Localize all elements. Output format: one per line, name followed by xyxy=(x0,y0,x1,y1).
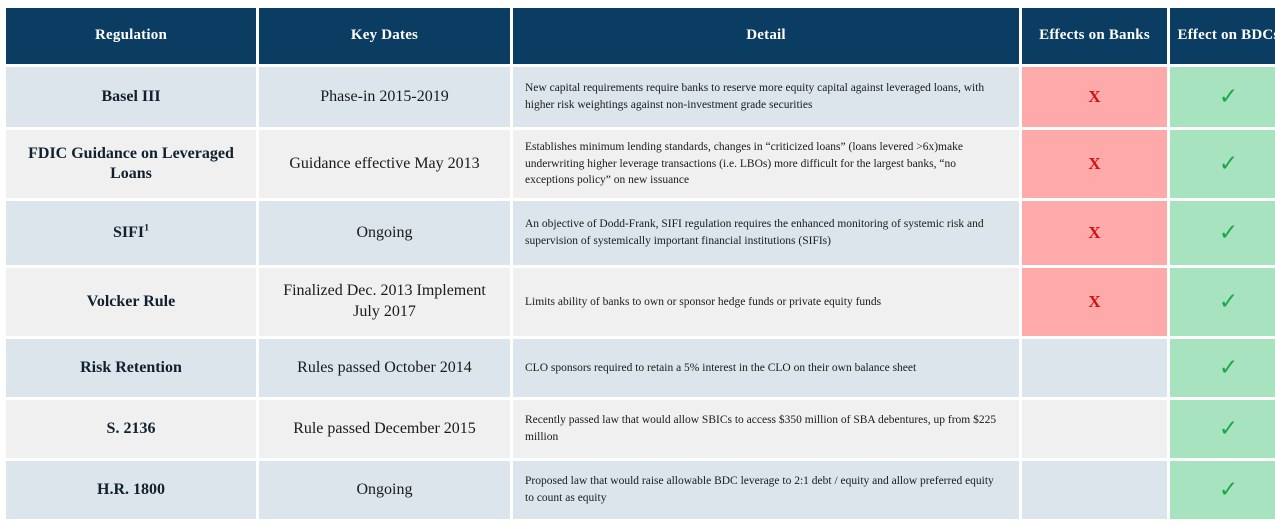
cell-effect-banks-empty xyxy=(1022,461,1167,519)
check-mark-icon: ✓ xyxy=(1219,416,1238,442)
cell-key-dates: Guidance effective May 2013 xyxy=(259,130,510,198)
regulation-label: Volcker Rule xyxy=(87,293,175,310)
cell-detail: Limits ability of banks to own or sponso… xyxy=(513,268,1019,336)
regulation-label: FDIC Guidance on Leveraged Loans xyxy=(28,145,234,182)
cell-regulation: H.R. 1800 xyxy=(6,461,256,519)
cell-regulation: S. 2136 xyxy=(6,400,256,458)
cell-key-dates: Phase-in 2015-2019 xyxy=(259,67,510,127)
column-header-detail: Detail xyxy=(513,8,1019,64)
cell-regulation: SIFI1 xyxy=(6,201,256,265)
check-mark-icon: ✓ xyxy=(1219,220,1238,246)
table-body: Basel IIIPhase-in 2015-2019New capital r… xyxy=(6,67,1275,519)
cell-key-dates: Ongoing xyxy=(259,461,510,519)
table-row: Risk RetentionRules passed October 2014C… xyxy=(6,339,1275,397)
cell-regulation: Risk Retention xyxy=(6,339,256,397)
cell-key-dates: Finalized Dec. 2013 Implement July 2017 xyxy=(259,268,510,336)
table-row: H.R. 1800OngoingProposed law that would … xyxy=(6,461,1275,519)
cell-effect-bdcs-positive: ✓ xyxy=(1170,130,1275,198)
cell-effect-banks-negative: X xyxy=(1022,130,1167,198)
cell-effect-banks-negative: X xyxy=(1022,67,1167,127)
cell-effect-bdcs-positive: ✓ xyxy=(1170,201,1275,265)
cell-key-dates: Rules passed October 2014 xyxy=(259,339,510,397)
cell-effect-banks-negative: X xyxy=(1022,201,1167,265)
regulation-table: Regulation Key Dates Detail Effects on B… xyxy=(3,5,1275,522)
table-row: Basel IIIPhase-in 2015-2019New capital r… xyxy=(6,67,1275,127)
cell-regulation: Volcker Rule xyxy=(6,268,256,336)
column-header-effect-on-bdcs: Effect on BDCs xyxy=(1170,8,1275,64)
cell-detail: CLO sponsors required to retain a 5% int… xyxy=(513,339,1019,397)
x-mark-icon: X xyxy=(1088,223,1100,242)
regulation-label: Risk Retention xyxy=(80,359,182,376)
cell-effect-bdcs-positive: ✓ xyxy=(1170,400,1275,458)
cell-regulation: Basel III xyxy=(6,67,256,127)
x-mark-icon: X xyxy=(1088,87,1100,106)
cell-key-dates: Rule passed December 2015 xyxy=(259,400,510,458)
regulation-label: SIFI xyxy=(113,224,144,241)
cell-regulation: FDIC Guidance on Leveraged Loans xyxy=(6,130,256,198)
cell-effect-bdcs-positive: ✓ xyxy=(1170,67,1275,127)
column-header-key-dates: Key Dates xyxy=(259,8,510,64)
cell-effect-bdcs-positive: ✓ xyxy=(1170,461,1275,519)
table-row: SIFI1OngoingAn objective of Dodd-Frank, … xyxy=(6,201,1275,265)
table-row: FDIC Guidance on Leveraged LoansGuidance… xyxy=(6,130,1275,198)
column-header-effects-on-banks: Effects on Banks xyxy=(1022,8,1167,64)
regulation-comparison-table: Regulation Key Dates Detail Effects on B… xyxy=(0,0,1275,527)
x-mark-icon: X xyxy=(1088,154,1100,173)
table-row: Volcker RuleFinalized Dec. 2013 Implemen… xyxy=(6,268,1275,336)
check-mark-icon: ✓ xyxy=(1219,151,1238,177)
cell-effect-banks-empty xyxy=(1022,400,1167,458)
regulation-footnote-marker: 1 xyxy=(144,223,149,234)
column-header-regulation: Regulation xyxy=(6,8,256,64)
cell-detail: Establishes minimum lending standards, c… xyxy=(513,130,1019,198)
check-mark-icon: ✓ xyxy=(1219,355,1238,381)
cell-detail: New capital requirements require banks t… xyxy=(513,67,1019,127)
cell-effect-bdcs-positive: ✓ xyxy=(1170,268,1275,336)
check-mark-icon: ✓ xyxy=(1219,477,1238,503)
cell-effect-banks-negative: X xyxy=(1022,268,1167,336)
cell-detail: Recently passed law that would allow SBI… xyxy=(513,400,1019,458)
regulation-label: Basel III xyxy=(101,88,160,105)
cell-detail: An objective of Dodd-Frank, SIFI regulat… xyxy=(513,201,1019,265)
cell-key-dates: Ongoing xyxy=(259,201,510,265)
table-row: S. 2136Rule passed December 2015Recently… xyxy=(6,400,1275,458)
cell-detail: Proposed law that would raise allowable … xyxy=(513,461,1019,519)
regulation-label: H.R. 1800 xyxy=(97,481,165,498)
cell-effect-bdcs-positive: ✓ xyxy=(1170,339,1275,397)
header-row: Regulation Key Dates Detail Effects on B… xyxy=(6,8,1275,64)
check-mark-icon: ✓ xyxy=(1219,289,1238,315)
check-mark-icon: ✓ xyxy=(1219,84,1238,110)
regulation-label: S. 2136 xyxy=(107,420,156,437)
x-mark-icon: X xyxy=(1088,292,1100,311)
table-header: Regulation Key Dates Detail Effects on B… xyxy=(6,8,1275,64)
cell-effect-banks-empty xyxy=(1022,339,1167,397)
